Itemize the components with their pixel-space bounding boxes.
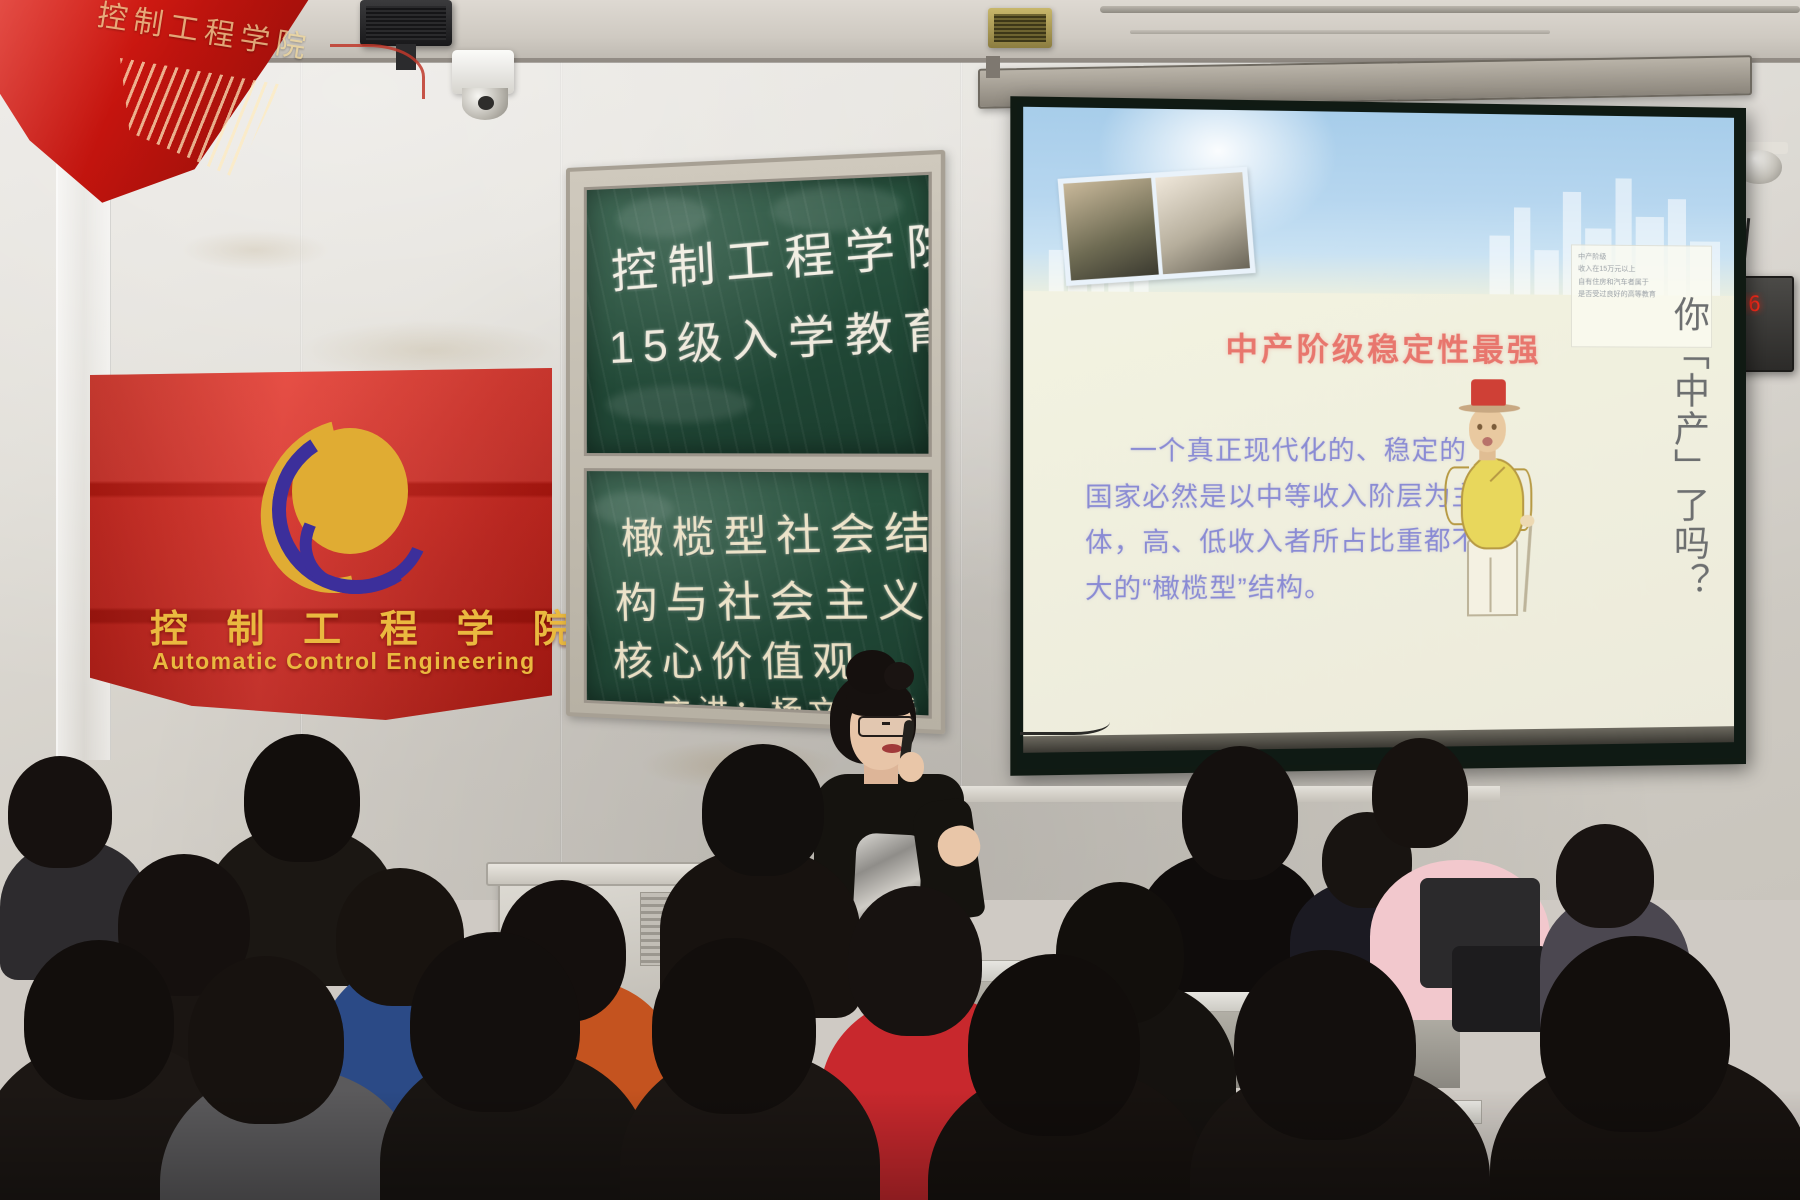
classroom-photo: 控制工程学院 控 制 工 程 学 院 Automatic Control Eng… [0,0,1800,1200]
wall-speaker-grill [994,14,1046,42]
cartoon-man-with-cane-icon [1440,379,1538,612]
college-emblem-logo [262,410,430,578]
slide-photo-2 [1155,172,1250,274]
projected-slide: 中产阶级 收入在15万元以上 自有住房和汽车者属于 是否受过良好的高等教育 中产… [1023,107,1734,753]
sidebox-line-2: 收入在15万元以上 [1578,264,1705,277]
slide-title: 中产阶级稳定性最强 [1023,322,1734,371]
sidebox-line-1: 中产阶级 [1578,251,1705,264]
banner-title-en: Automatic Control Engineering [148,648,540,675]
banner-title-cn: 控 制 工 程 学 院 [150,598,542,653]
ceiling-conduit-2 [1130,30,1550,34]
blackboard-frame: 控制工程学院 15级入学教育 橄榄型社会结 构与社会主义 核心价值观 主讲：杨文… [566,150,945,735]
chalk-line-3: 橄榄型社会结 [620,497,932,566]
sidebox-line-3: 自有住房和汽车者属于 [1578,276,1705,289]
slide-photo-strip [1058,167,1256,286]
foreground-shadow [0,1090,1800,1200]
ceiling-conduit [1100,6,1800,13]
camera-lens-icon [478,96,494,110]
chalk-line-2: 15级入学教育 [608,291,932,376]
blackboard-upper: 控制工程学院 15级入学教育 [584,172,932,457]
screen-bracket [986,56,1000,78]
slide-vertical-question: 你「中产」了吗？ [1662,295,1708,626]
projector-screen: 中产阶级 收入在15万元以上 自有住房和汽车者属于 是否受过良好的高等教育 中产… [1010,96,1746,776]
ceiling-speaker [360,0,452,46]
slide-photo-1 [1063,178,1159,281]
chalk-line-4: 构与社会主义 [614,565,932,631]
